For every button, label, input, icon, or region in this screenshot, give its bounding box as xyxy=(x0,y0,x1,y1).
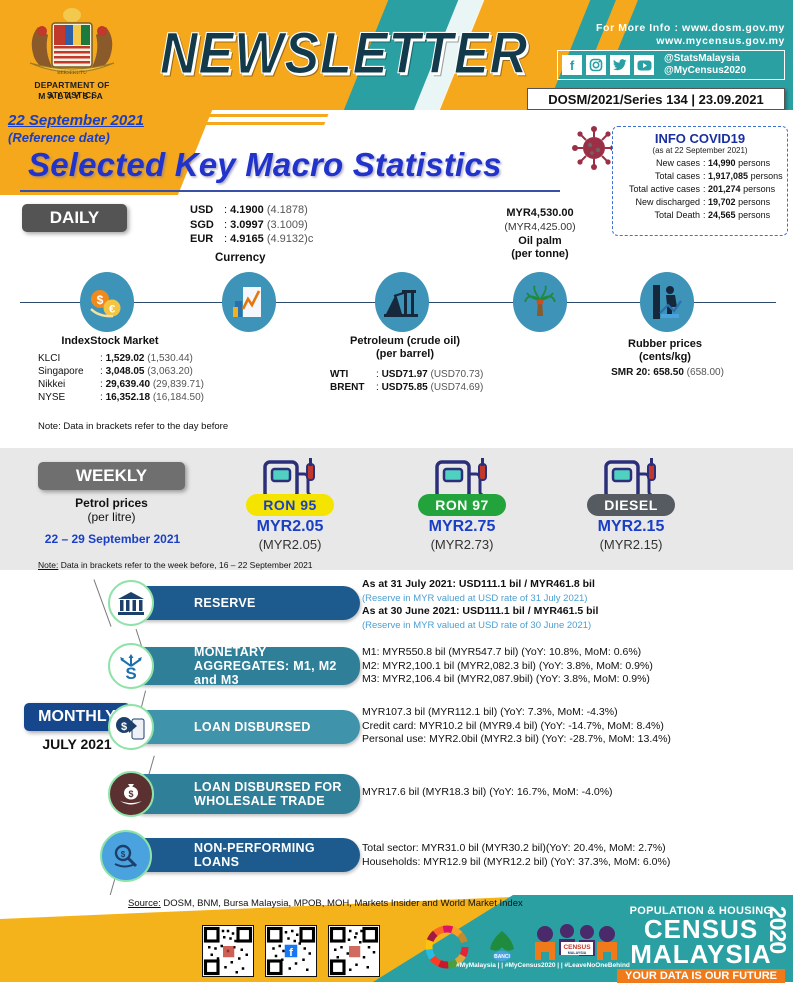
oilpalm-price-previous: (MYR4,425.00) xyxy=(470,221,610,233)
covid-value: : 1,917,085 persons xyxy=(703,170,783,183)
qr-facebook-icon[interactable]: f xyxy=(265,925,317,977)
fuel-grade-ron95: RON 95 xyxy=(246,494,334,516)
petrol-prices-title: Petrol prices xyxy=(38,496,185,510)
monthly-row-reserve-bar: RESERVE xyxy=(128,586,360,620)
svg-text:$: $ xyxy=(121,721,127,733)
currency-rates-block: USD: 4.1900 (4.1878) SGD: 3.0997 (3.1009… xyxy=(190,203,313,247)
covid-row: Total Death: 24,565 persons xyxy=(613,209,787,222)
money-supply-icon: S xyxy=(108,643,154,689)
rubber-tapper-icon xyxy=(640,272,694,332)
malaysia-coat-of-arms-icon: BERSEKUTU xyxy=(18,5,126,83)
currency-code: SGD xyxy=(190,218,224,233)
series-tag: DOSM/2021/Series 134 | 23.09.2021 xyxy=(527,88,785,110)
fuel-price-diesel: MYR2.15 xyxy=(576,518,686,536)
census-year: 2020 xyxy=(764,906,791,953)
covid-label: Total Death xyxy=(617,209,703,222)
covid-value: : 24,565 persons xyxy=(703,209,783,222)
youtube-icon[interactable] xyxy=(634,55,654,75)
svg-text:S: S xyxy=(125,664,136,680)
page-header: BERSEKUTU DEPARTMENT OF STATISTICS MALAY… xyxy=(0,0,793,110)
fuel-grade-ron97: RON 97 xyxy=(418,494,506,516)
currency-value: : 3.0997 (3.1009) xyxy=(224,218,308,233)
fuel-price-ron95: MYR2.05 xyxy=(235,518,345,536)
monthly-row-reserve-text: As at 31 July 2021: USD111.1 bil / MYR46… xyxy=(362,578,786,632)
covid-row: Total cases: 1,917,085 persons xyxy=(613,170,787,183)
more-info-block: For More Info : www.dosm.gov.my www.myce… xyxy=(596,22,785,48)
stock-name: KLCI xyxy=(38,352,100,365)
stock-value: : 29,639.40 (29,839.71) xyxy=(100,378,204,391)
monthly-row-npl-text: Total sector: MYR31.0 bil (MYR30.2 bil)(… xyxy=(362,842,786,869)
fuel-price-prev-ron97: (MYR2.73) xyxy=(407,537,517,552)
census-logo-block: POPULATION & HOUSING CENSUS MALAYSIA YOU… xyxy=(617,905,785,983)
petroleum-value: : USD75.85 (USD74.69) xyxy=(376,381,483,394)
svg-text:f: f xyxy=(289,947,293,959)
covid-value: : 19,702 persons xyxy=(703,196,783,209)
handle-mycensus: @MyCensus2020 xyxy=(664,65,746,77)
stock-market-icon xyxy=(222,272,276,332)
covid-label: Total cases xyxy=(617,170,703,183)
daily-section-chip: DAILY xyxy=(22,204,127,232)
source-note: Source: DOSM, BNM, Bursa Malaysia, MPOB,… xyxy=(128,898,523,909)
weekly-section-chip: WEEKLY xyxy=(38,462,185,490)
petrol-prices-period: 22 – 29 September 2021 xyxy=(20,532,205,546)
newsletter-wordmark: NEWSLETTER xyxy=(160,20,528,87)
fuel-price-prev-diesel: (MYR2.15) xyxy=(576,537,686,552)
svg-text:$: $ xyxy=(121,850,126,859)
qr-mycensus-icon[interactable] xyxy=(328,925,380,977)
npl-icon: $ xyxy=(100,830,152,882)
covid-row: Total active cases: 201,274 persons xyxy=(613,183,787,196)
petroleum-name: WTI xyxy=(330,368,376,381)
more-info-line1: For More Info : www.dosm.gov.my xyxy=(596,22,785,35)
covid-row: New discharged: 19,702 persons xyxy=(613,196,787,209)
rubber-label: Rubber prices(cents/kg) xyxy=(580,338,750,364)
title-divider xyxy=(20,190,560,192)
fuel-price-prev-ron95: (MYR2.05) xyxy=(235,537,345,552)
census-line3: MALAYSIA xyxy=(617,942,785,967)
monthly-row-monetary-bar: MONETARY AGGREGATES: M1, M2 and M3 xyxy=(128,647,360,685)
svg-text:$: $ xyxy=(97,293,104,307)
reference-date: 22 September 2021 xyxy=(8,112,144,129)
social-handles: @StatsMalaysia @MyCensus2020 xyxy=(664,53,746,77)
qr-dosm-icon[interactable] xyxy=(202,925,254,977)
currency-row: USD: 4.1900 (4.1878) xyxy=(190,203,313,218)
covid-title: INFO COVID19 xyxy=(613,131,787,146)
petrol-prices-unit: (per litre) xyxy=(38,510,185,524)
census-tagline: YOUR DATA IS OUR FUTURE xyxy=(617,969,785,983)
fuel-price-ron97: MYR2.75 xyxy=(407,518,517,536)
stock-value: : 3,048.05 (3,063.20) xyxy=(100,365,193,378)
stock-market-rows: KLCI: 1,529.02 (1,530.44) Singapore: 3,0… xyxy=(38,352,218,404)
svg-text:BERSEKUTU: BERSEKUTU xyxy=(57,71,87,76)
petroleum-value: : USD71.97 (USD70.73) xyxy=(376,368,483,381)
monthly-row-wholesale-label: LOAN DISBURSED FOR WHOLESALE TRADE xyxy=(194,780,360,808)
loan-mobile-icon: $ xyxy=(108,704,154,750)
oil-pump-icon xyxy=(375,272,429,332)
currency-label: Currency xyxy=(215,252,266,264)
monthly-row-loan-bar: LOAN DISBURSED xyxy=(128,710,360,744)
monthly-row-npl-bar: NON-PERFORMING LOANS xyxy=(128,838,360,872)
coronavirus-icon xyxy=(572,126,616,170)
stock-value: : 1,529.02 (1,530.44) xyxy=(100,352,193,365)
svg-text:€: € xyxy=(109,304,115,316)
reference-date-sublabel: (Reference date) xyxy=(8,130,110,145)
petroleum-label: Petroleum (crude oil)(per barrel) xyxy=(310,335,500,361)
stock-name: Nikkei xyxy=(38,378,100,391)
monthly-row-wholesale-text: MYR17.6 bil (MYR18.3 bil) (YoY: 16.7%, M… xyxy=(362,786,786,800)
instagram-icon[interactable] xyxy=(586,55,606,75)
covid-value: : 14,990 persons xyxy=(703,157,783,170)
stock-name: Singapore xyxy=(38,365,100,378)
stock-name: NYSE xyxy=(38,391,100,404)
petroleum-rows: WTI: USD71.97 (USD70.73) BRENT: USD75.85… xyxy=(330,368,530,394)
fuel-grade-diesel: DIESEL xyxy=(587,494,675,516)
twitter-icon[interactable] xyxy=(610,55,630,75)
facebook-icon[interactable]: f xyxy=(562,55,582,75)
covid-label: New cases xyxy=(617,157,703,170)
page-title: Selected Key Macro Statistics xyxy=(28,146,502,184)
daily-note: Note: Data in brackets refer to the day … xyxy=(38,421,228,432)
currency-row: SGD: 3.0997 (3.1009) xyxy=(190,218,313,233)
oilpalm-label: Oil palm(per tonne) xyxy=(470,235,610,261)
svg-text:$: $ xyxy=(128,789,133,799)
rubber-value: SMR 20: 658.50 (658.00) xyxy=(580,366,755,379)
oil-palm-icon xyxy=(513,272,567,332)
petroleum-name: BRENT xyxy=(330,381,376,394)
bank-icon xyxy=(108,580,154,626)
svg-text:MALAYSIA: MALAYSIA xyxy=(568,951,587,955)
covid-value: : 201,274 persons xyxy=(703,183,783,196)
currency-code: EUR xyxy=(190,232,224,247)
currency-code: USD xyxy=(190,203,224,218)
social-media-box: f @StatsMalaysia @MyCensus2020 xyxy=(557,50,785,80)
covid-subtitle: (as at 22 September 2021) xyxy=(613,146,787,155)
monthly-row-monetary-label: MONETARY AGGREGATES: M1, M2 and M3 xyxy=(194,645,360,687)
weekly-note: Note: Data in brackets refer to the week… xyxy=(38,560,313,570)
covid-row: New cases: 14,990 persons xyxy=(613,157,787,170)
more-info-line2: www.mycensus.gov.my xyxy=(596,35,785,48)
currency-value: : 4.1900 (4.1878) xyxy=(224,203,308,218)
money-bag-hand-icon: $ xyxy=(108,771,154,817)
stock-value: : 16,352.18 (16,184.50) xyxy=(100,391,204,404)
newsletter-page: BERSEKUTU DEPARTMENT OF STATISTICS MALAY… xyxy=(0,0,793,982)
covid-info-box: INFO COVID19 (as at 22 September 2021) N… xyxy=(612,126,788,236)
dept-name-line2: MALAYSIA xyxy=(16,91,128,101)
svg-text:BANCI: BANCI xyxy=(494,954,510,960)
stock-market-label: IndexStock Market xyxy=(30,335,190,348)
currency-value: : 4.9165 (4.9132)c xyxy=(224,232,313,247)
monthly-row-loan-text: MYR107.3 bil (MYR112.1 bil) (YoY: 7.3%, … xyxy=(362,706,786,747)
covid-label: New discharged xyxy=(617,196,703,209)
currency-row: EUR: 4.9165 (4.9132)c xyxy=(190,232,313,247)
svg-text:CENSUS: CENSUS xyxy=(563,944,591,951)
handle-stats-malaysia: @StatsMalaysia xyxy=(664,53,746,65)
oilpalm-price: MYR4,530.00 xyxy=(470,207,610,219)
monthly-row-wholesale-bar: LOAN DISBURSED FOR WHOLESALE TRADE xyxy=(128,774,360,814)
currency-icon: $ € xyxy=(80,272,134,332)
covid-label: Total active cases xyxy=(617,183,703,196)
monthly-row-monetary-text: M1: MYR550.8 bil (MYR547.7 bil) (YoY: 10… xyxy=(362,646,786,687)
